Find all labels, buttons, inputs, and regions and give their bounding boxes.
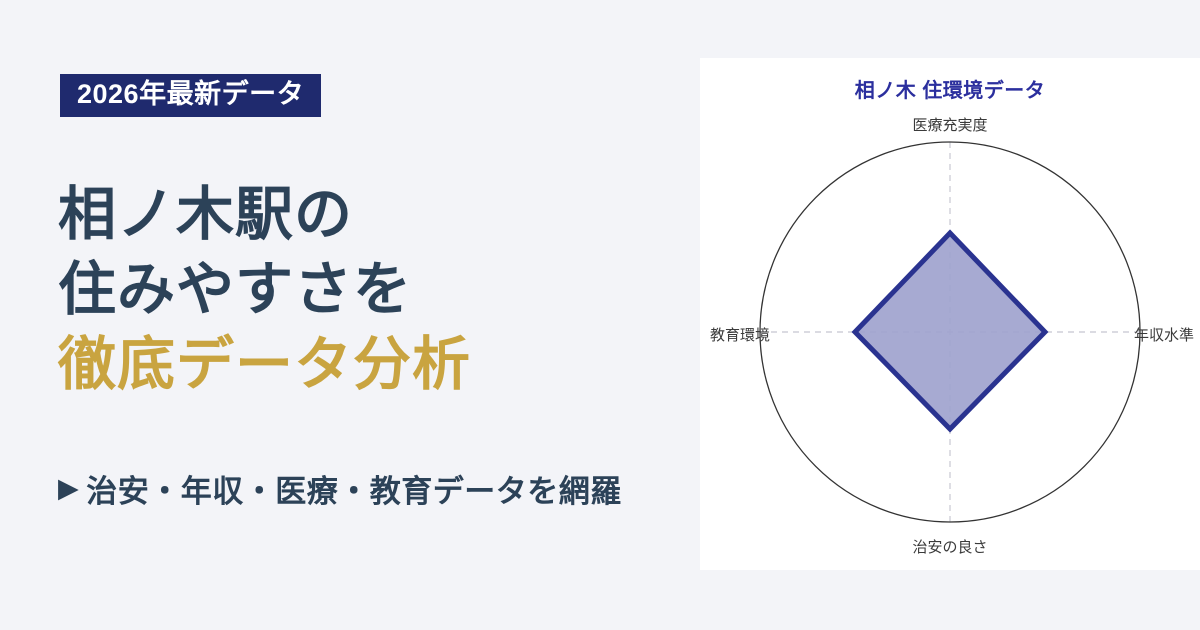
subtitle-text: 治安・年収・医療・教育データを網羅 [86,466,622,511]
axis-label-medical: 医療充実度 [700,114,1200,135]
triangle-marker-icon: ▶ [58,475,79,502]
headline-line-1: 相ノ木駅の [58,178,698,253]
headline-line-3: 徹底データ分析 [58,328,698,403]
headline-line-2: 住みやすさを [58,253,698,328]
subtitle: ▶ 治安・年収・医療・教育データを網羅 [58,466,622,511]
axis-label-income: 年収水準 [1134,324,1194,345]
axis-label-education: 教育環境 [710,324,770,345]
page-title: 相ノ木駅の 住みやすさを 徹底データ分析 [58,178,698,402]
status-badge: 2026年最新データ [60,74,321,117]
poster-canvas: 2026年最新データ 相ノ木駅の 住みやすさを 徹底データ分析 ▶ 治安・年収・… [0,0,1200,630]
axis-label-safety: 治安の良さ [700,536,1200,557]
radar-data-polygon [855,233,1045,429]
radar-chart-panel: 相ノ木 住環境データ 医療充実度 年収水準 治安の良さ 教育環境 [700,58,1200,570]
left-content-column: 2026年最新データ 相ノ木駅の 住みやすさを 徹底データ分析 ▶ 治安・年収・… [0,0,700,630]
